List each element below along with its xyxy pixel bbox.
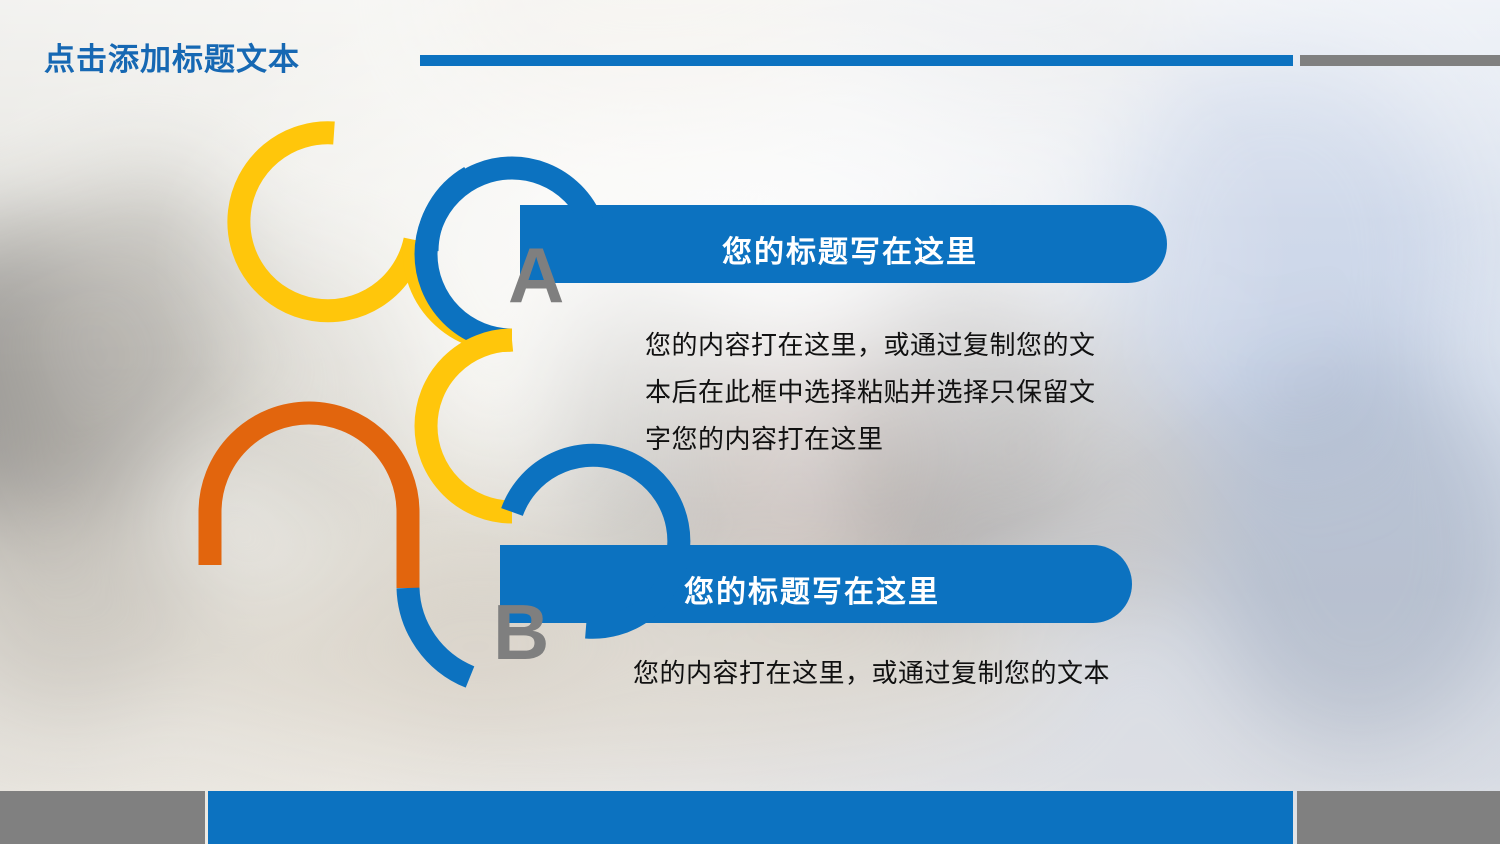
- item-a-marker-letter: A: [508, 236, 564, 314]
- item-b-heading: 您的标题写在这里: [684, 567, 940, 611]
- footer-bar-right: [1297, 791, 1500, 844]
- slide-canvas: 点击添加标题文本: [0, 0, 1500, 844]
- yellow-ring-top: [239, 133, 415, 311]
- yellow-connector-middle: [426, 340, 512, 512]
- item-a-heading: 您的标题写在这里: [722, 227, 978, 271]
- orange-arc: [210, 413, 408, 588]
- blue-arc-under-orange: [408, 588, 470, 677]
- item-a-body: 您的内容打在这里，或通过复制您的文 本后在此框中选择粘贴并选择只保留文 字您的内…: [645, 322, 1245, 463]
- item-b-body: 您的内容打在这里，或通过复制您的文本: [633, 650, 1273, 697]
- footer-bar-left: [0, 791, 205, 844]
- footer-bar-center: [208, 791, 1293, 844]
- item-b-marker-letter: B: [493, 593, 549, 671]
